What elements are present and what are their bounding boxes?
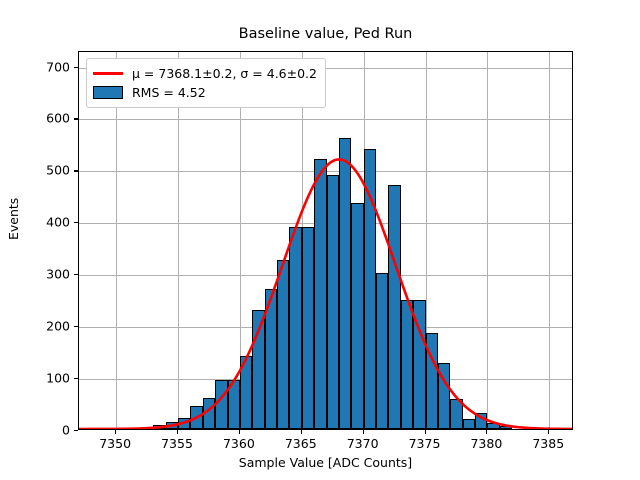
histogram-bar (364, 149, 376, 429)
histogram-bar (190, 406, 202, 429)
histogram-bar (240, 356, 252, 429)
x-tick-mark (115, 430, 116, 434)
x-tick-mark (177, 430, 178, 434)
histogram-bar (215, 380, 227, 429)
y-tick-label: 100 (28, 371, 70, 386)
x-tick-mark (425, 430, 426, 434)
histogram-bar (401, 300, 413, 429)
histogram-bar (327, 175, 339, 429)
y-tick-label: 700 (28, 59, 70, 74)
histogram-bar (289, 227, 301, 429)
histogram-bar (166, 422, 178, 429)
histogram-bar (178, 418, 190, 429)
histogram-bar (265, 289, 277, 429)
x-tick-mark (301, 430, 302, 434)
histogram-bar (388, 185, 400, 429)
histogram-bar (252, 310, 264, 429)
gridline-vertical (487, 52, 488, 429)
x-tick-label: 7355 (142, 436, 212, 451)
histogram-bar (314, 159, 326, 429)
y-tick-label: 400 (28, 215, 70, 230)
legend-label-rms: RMS = 4.52 (132, 85, 206, 100)
x-tick-label: 7360 (204, 436, 274, 451)
histogram-bar (376, 273, 388, 429)
histogram-bar (302, 227, 314, 429)
y-tick-label: 0 (28, 423, 70, 438)
histogram-bar (463, 419, 475, 429)
gridline-horizontal (79, 119, 572, 120)
histogram-bar (277, 260, 289, 429)
x-tick-label: 7380 (451, 436, 521, 451)
histogram-bar (228, 380, 240, 429)
gridline-vertical (116, 52, 117, 429)
chart-title: Baseline value, Ped Run (78, 26, 573, 42)
histogram-bar (351, 203, 363, 429)
x-axis-label: Sample Value [ADC Counts] (78, 455, 573, 470)
chart-figure: Baseline value, Ped Run Events Sample Va… (0, 0, 640, 480)
histogram-bar (339, 138, 351, 429)
legend-item-fit: μ = 7368.1±0.2, σ = 4.6±0.2 (93, 64, 317, 83)
legend-item-rms: RMS = 4.52 (93, 83, 317, 102)
x-tick-mark (548, 430, 549, 434)
histogram-bar (413, 300, 425, 429)
histogram-bar (487, 423, 499, 429)
y-tick-label: 200 (28, 319, 70, 334)
y-axis-label: Events (6, 198, 21, 240)
x-tick-label: 7375 (390, 436, 460, 451)
histogram-bar (500, 426, 512, 429)
histogram-bar (426, 333, 438, 429)
x-tick-label: 7370 (328, 436, 398, 451)
legend-line-swatch-icon (93, 72, 123, 75)
y-tick-label: 500 (28, 163, 70, 178)
legend-label-fit: μ = 7368.1±0.2, σ = 4.6±0.2 (132, 66, 317, 81)
x-tick-mark (486, 430, 487, 434)
x-tick-label: 7365 (266, 436, 336, 451)
gridline-vertical (549, 52, 550, 429)
x-tick-label: 7350 (80, 436, 150, 451)
y-tick-label: 300 (28, 267, 70, 282)
histogram-bar (438, 363, 450, 429)
legend-patch-swatch-icon (93, 86, 123, 99)
x-tick-label: 7385 (513, 436, 583, 451)
x-tick-mark (363, 430, 364, 434)
histogram-bar (203, 398, 215, 429)
histogram-bar (153, 425, 165, 429)
y-tick-label: 600 (28, 111, 70, 126)
y-tick-mark (74, 430, 78, 431)
chart-legend: μ = 7368.1±0.2, σ = 4.6±0.2 RMS = 4.52 (86, 58, 326, 108)
histogram-bar (475, 413, 487, 429)
histogram-bar (450, 399, 462, 429)
gridline-vertical (178, 52, 179, 429)
x-tick-mark (239, 430, 240, 434)
